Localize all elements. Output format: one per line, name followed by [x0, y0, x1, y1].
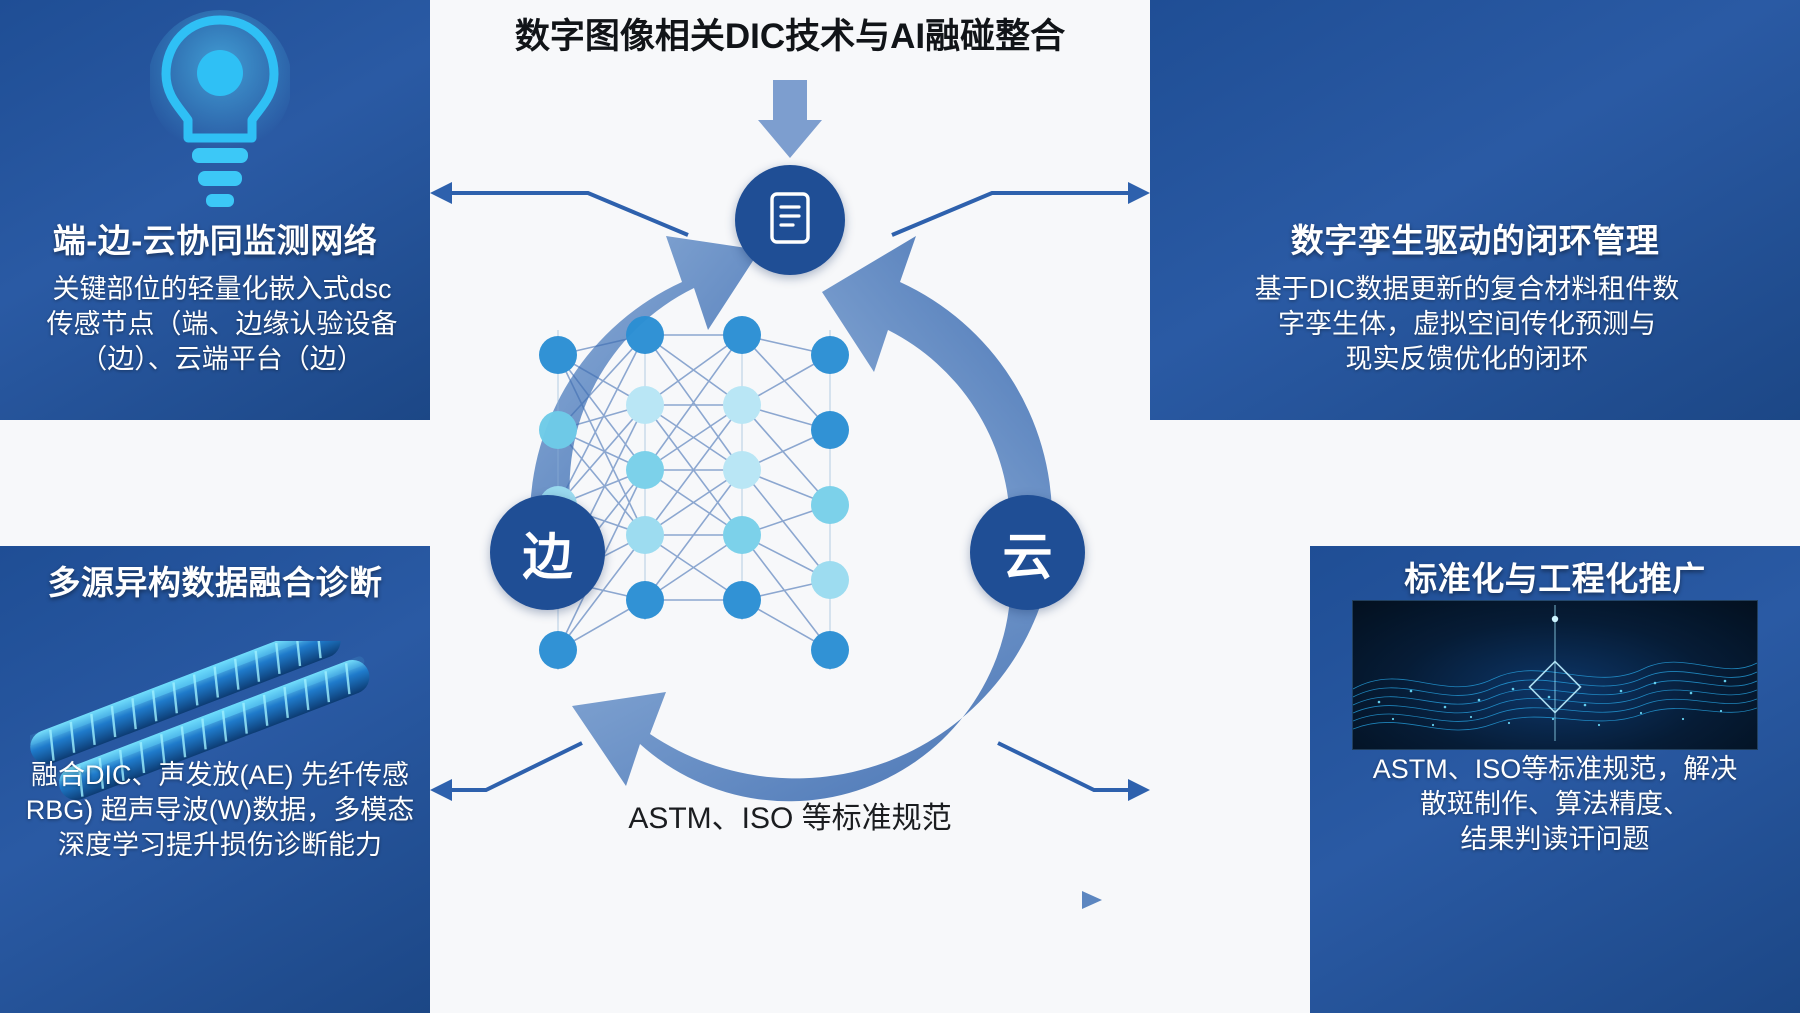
document-icon [766, 191, 814, 250]
title-down-arrow [758, 80, 822, 158]
panel-top-right-body: 基于DIC数据更新的复合材料租件数 字孪生体，虚拟空间传化预测与 现实反馈优化的… [1150, 272, 1794, 377]
panel-bottom-right-title: 标准化与工程化推广 [1310, 560, 1800, 598]
panel-top-right-title: 数字孪生驱动的闭环管理 [1150, 222, 1800, 260]
panel-bottom-right: 标准化与工程化推广 [1310, 546, 1800, 1013]
panel-top-left-body: 关键部位的轻量化嵌入式dsc 传感节点（端、边缘认验设备 （边）、云端平台（边） [6, 272, 430, 377]
panel-top-right: AI 数字孪生驱动的闭环管理 基于DIC数据更新的复合材料租件数 字孪生体，虚拟… [1150, 0, 1800, 420]
infographic-canvas: 端-边-云协同监测网络 关键部位的轻量化嵌入式dsc 传感节点（端、边缘认验设备… [0, 0, 1800, 1013]
lightbulb-icon [150, 10, 290, 215]
standards-bar [480, 891, 1102, 909]
document-node[interactable] [735, 165, 845, 275]
cloud-node-label: 云 [1003, 517, 1053, 589]
panel-bottom-left-title: 多源异构数据融合诊断 [0, 564, 430, 602]
center-diagram: 数字图像相关DIC技术与AI融碰整合 [430, 0, 1150, 1013]
terrain-mesh-photo [1352, 600, 1758, 750]
panel-bottom-left: 多源异构数据融合诊断 [0, 546, 430, 1013]
edge-node[interactable]: 边 [490, 495, 605, 610]
cloud-node[interactable]: 云 [970, 495, 1085, 610]
panel-bottom-left-body: 融合DIC、声发放(AE) 先纤传感 RBG) 超声导波(W)数据，多模态 深度… [4, 758, 430, 863]
edge-node-label: 边 [523, 517, 573, 589]
cycle-arrow-right [822, 236, 1052, 520]
panel-top-left: 端-边-云协同监测网络 关键部位的轻量化嵌入式dsc 传感节点（端、边缘认验设备… [0, 0, 430, 420]
standards-bar-label: ASTM、ISO 等标准规范 [430, 793, 1150, 837]
panel-bottom-right-body: ASTM、ISO等标准规范，解决 散斑制作、算法精度、 结果判读讦问题 [1310, 752, 1800, 857]
panel-top-left-title: 端-边-云协同监测网络 [0, 222, 430, 260]
